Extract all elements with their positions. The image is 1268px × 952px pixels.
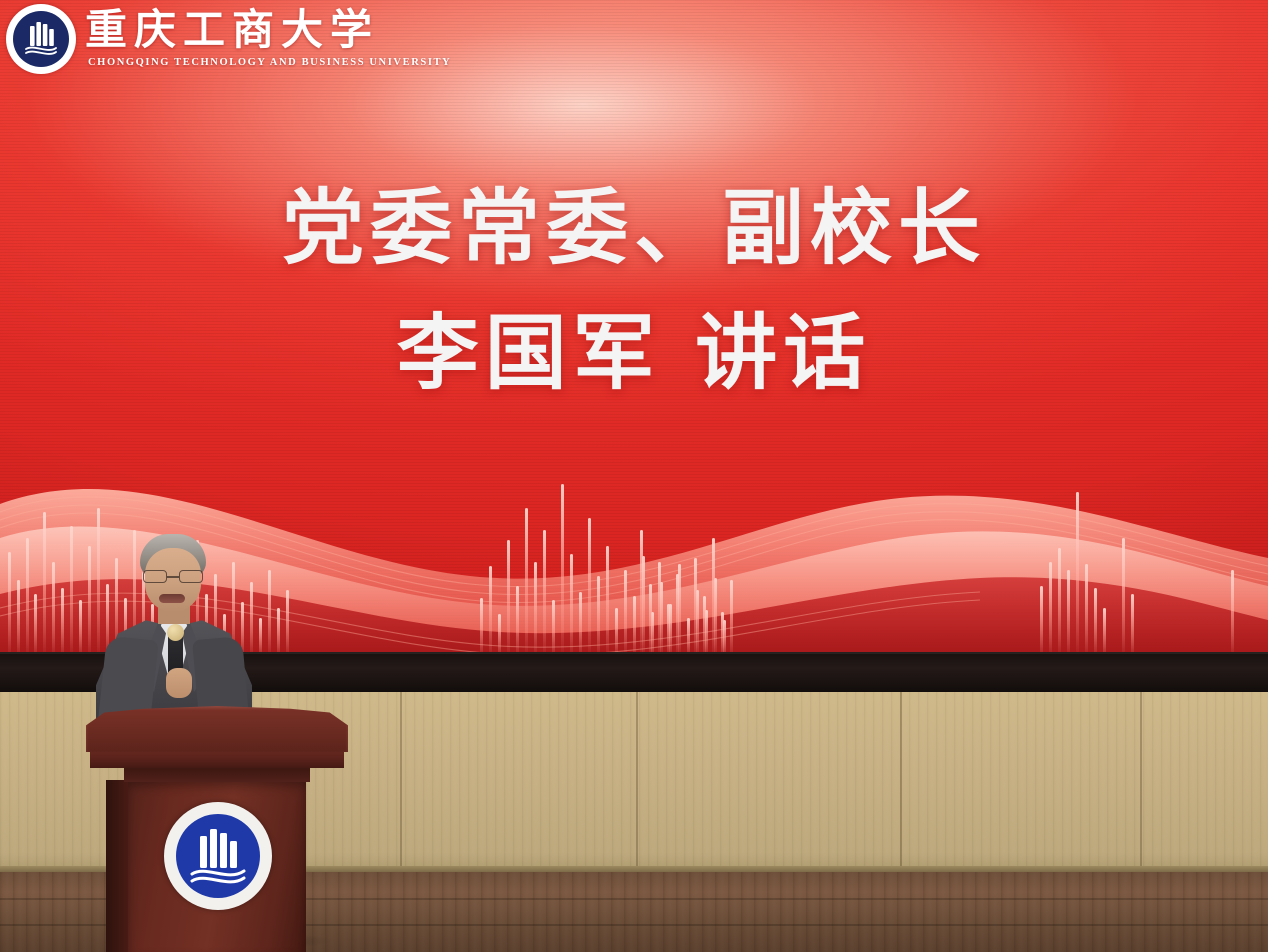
equalizer-bar (1103, 608, 1106, 658)
equalizer-bar (730, 580, 733, 658)
seal-artwork-icon (6, 4, 76, 74)
emblem-artwork-icon (164, 802, 272, 910)
wall-seam (1140, 690, 1142, 875)
equalizer-bar (649, 584, 652, 658)
equalizer-bar (1231, 570, 1234, 658)
equalizer-bar (1076, 492, 1079, 658)
speaker-figure (96, 534, 252, 730)
mouth (159, 594, 185, 603)
university-name-block: 重庆工商大学 CHONGQING TECHNOLOGY AND BUSINESS… (85, 10, 451, 69)
headline-line-1: 党委常委、副校长 (0, 186, 1268, 273)
podium-desktop (86, 706, 348, 752)
university-name-cn: 重庆工商大学 (85, 10, 451, 52)
screen-headline: 党委常委、副校长 李国军 讲话 (0, 186, 1268, 398)
university-seal-icon (6, 4, 76, 74)
podium-university-emblem-icon (164, 802, 272, 910)
equalizer-bar (1131, 594, 1134, 658)
screenshot-root: 重庆工商大学 CHONGQING TECHNOLOGY AND BUSINESS… (0, 0, 1268, 952)
equalizer-bar (1049, 562, 1052, 658)
headline-line-2: 李国军 讲话 (0, 311, 1268, 398)
wall-seam (900, 690, 902, 875)
wall-seam (636, 690, 638, 875)
equalizer-bar (658, 562, 661, 658)
equalizer-bar (1058, 548, 1061, 658)
university-branding: 重庆工商大学 CHONGQING TECHNOLOGY AND BUSINESS… (6, 4, 451, 74)
equalizer-bar (712, 538, 715, 658)
university-name-en: CHONGQING TECHNOLOGY AND BUSINESS UNIVER… (85, 58, 451, 69)
podium-side-panel (106, 780, 130, 952)
podium-neck (124, 766, 310, 782)
hand (166, 668, 192, 698)
equalizer-bar (640, 530, 643, 658)
wall-seam (400, 690, 402, 875)
equalizer-bar (1094, 588, 1097, 658)
microphone-head-icon (167, 624, 184, 641)
eyeglasses-icon (143, 570, 203, 583)
equalizer-bar (676, 574, 679, 658)
equalizer-bar (1067, 570, 1070, 658)
equalizer-bar (694, 558, 697, 658)
equalizer-bar (1085, 564, 1088, 658)
equalizer-bar (1040, 586, 1043, 658)
equalizer-bar (667, 604, 670, 658)
equalizer-bar (1122, 538, 1125, 658)
speaker-podium (86, 706, 348, 952)
equalizer-bar (703, 596, 706, 658)
